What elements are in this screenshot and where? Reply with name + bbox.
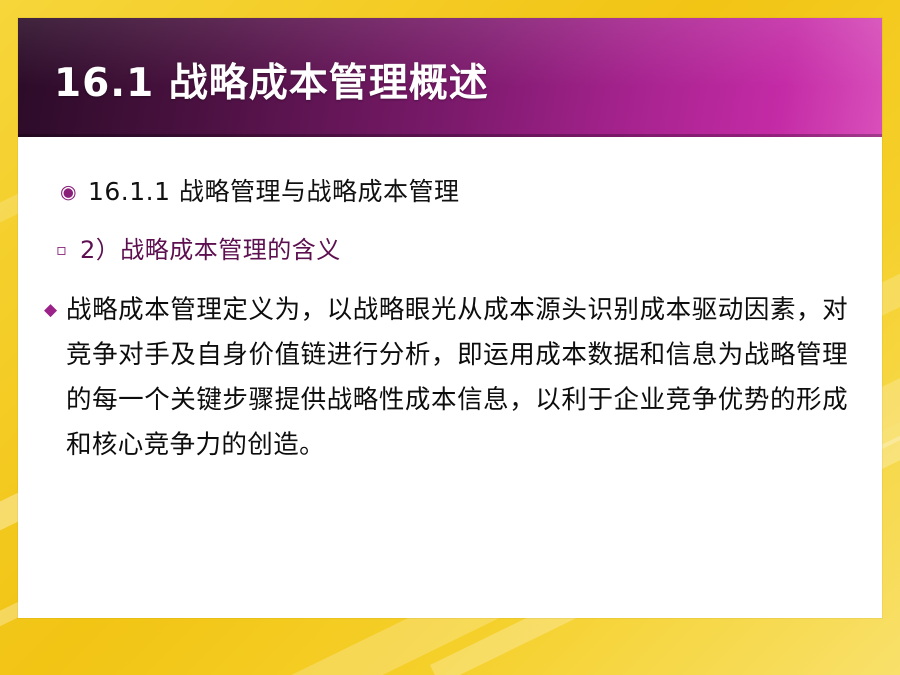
bullet-item-level1: ◉ 16.1.1 战略管理与战略成本管理 <box>60 177 882 207</box>
presentation-slide: 16.1 战略成本管理概述 ◉ 16.1.1 战略管理与战略成本管理 ▫ 2）战… <box>0 0 900 675</box>
slide-body: ◉ 16.1.1 战略管理与战略成本管理 ▫ 2）战略成本管理的含义 ◆ 战略成… <box>18 137 882 618</box>
slide-content-card: 16.1 战略成本管理概述 ◉ 16.1.1 战略管理与战略成本管理 ▫ 2）战… <box>18 18 882 618</box>
bullet-item-level1-text: 16.1.1 战略管理与战略成本管理 <box>88 177 459 207</box>
bullet-item-level3: ◆ 战略成本管理定义为，以战略眼光从成本源头识别成本驱动因素，对竞争对手及自身价… <box>44 288 848 468</box>
bullet-item-level2-text: 2）战略成本管理的含义 <box>80 234 341 266</box>
circle-dot-bullet-icon: ◉ <box>60 177 88 207</box>
bullet-item-level2: ▫ 2）战略成本管理的含义 <box>56 234 882 266</box>
slide-title-bar: 16.1 战略成本管理概述 <box>18 18 882 137</box>
diamond-bullet-icon: ◆ <box>44 288 66 333</box>
page-title: 16.1 战略成本管理概述 <box>54 52 489 108</box>
bullet-item-level3-text: 战略成本管理定义为，以战略眼光从成本源头识别成本驱动因素，对竞争对手及自身价值链… <box>66 288 848 468</box>
square-bullet-icon: ▫ <box>56 234 80 266</box>
